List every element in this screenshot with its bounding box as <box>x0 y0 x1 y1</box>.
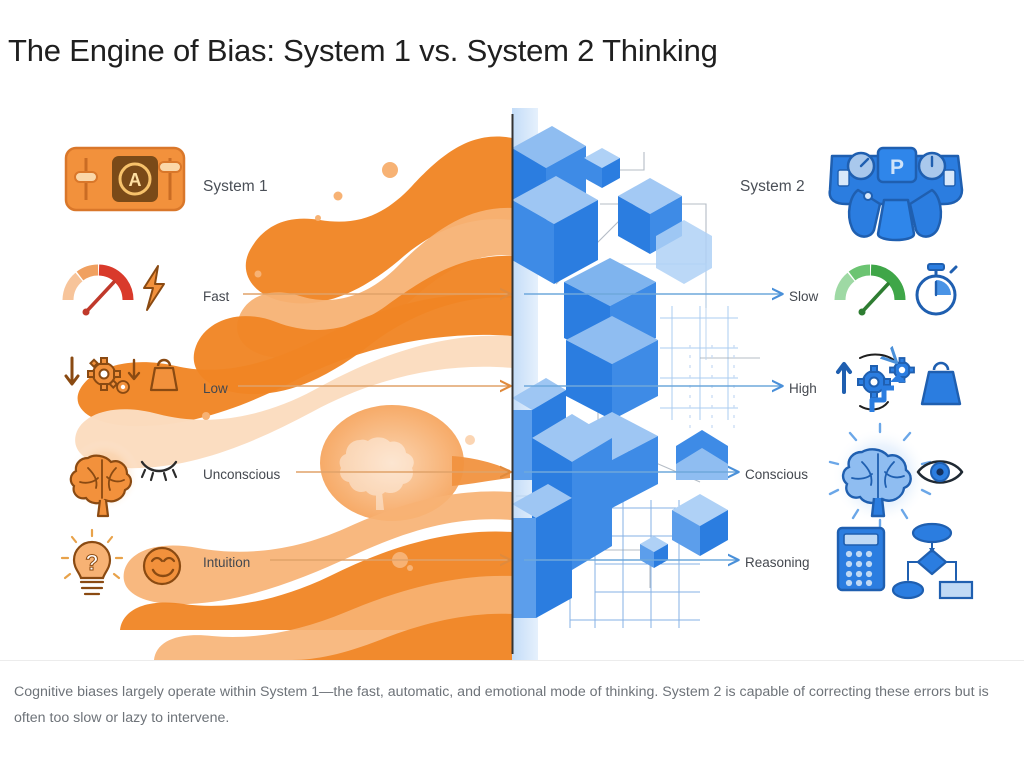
smiling-face-icon <box>144 548 180 584</box>
infographic-page: The Engine of Bias: System 1 vs. System … <box>0 0 1024 768</box>
row-label-high: High <box>789 381 817 396</box>
orange-brain-icon <box>68 440 140 516</box>
svg-text:A: A <box>129 170 142 190</box>
question-lightbulb-icon: ? <box>62 530 122 594</box>
row-label-fast: Fast <box>203 289 229 304</box>
row-label-intuition: Intuition <box>203 555 250 570</box>
page-title: The Engine of Bias: System 1 vs. System … <box>8 33 718 69</box>
red-speedometer-icon <box>68 270 128 316</box>
figure-panel: A <box>0 108 1024 660</box>
high-effort-gears-icon <box>838 355 914 412</box>
cube-small-top <box>584 148 620 188</box>
caption-text: Cognitive biases largely operate within … <box>14 679 994 732</box>
row-label-low: Low <box>203 381 228 396</box>
system1-heading: System 1 <box>203 178 268 196</box>
heavy-weight-icon <box>922 363 960 404</box>
automatic-mode-panel-icon: A <box>66 148 184 210</box>
green-speedometer-icon <box>840 270 900 316</box>
svg-text:P: P <box>890 156 904 179</box>
open-eye-icon <box>918 462 962 483</box>
cube-tiny-lower <box>640 536 668 568</box>
row-label-slow: Slow <box>789 289 818 304</box>
system1-fluid-field <box>75 137 512 660</box>
block-lower-left-c <box>512 484 572 618</box>
cube-small-lower-right <box>672 494 728 556</box>
row-label-reasoning: Reasoning <box>745 555 810 570</box>
glowing-blue-brain-icon <box>830 424 930 528</box>
system2-geometric-field <box>512 108 760 660</box>
figure-graphic: A <box>0 108 1024 660</box>
calculator-icon <box>838 528 884 590</box>
flowchart-icon <box>893 524 972 598</box>
system2-heading: System 2 <box>740 178 805 196</box>
row-label-unconscious: Unconscious <box>203 467 280 482</box>
stopwatch-icon <box>917 264 956 314</box>
lightning-bolt-icon <box>144 266 164 310</box>
manual-control-dashboard-icon: P <box>830 148 962 240</box>
svg-text:?: ? <box>85 550 98 575</box>
row-label-conscious: Conscious <box>745 467 808 482</box>
caption-separator <box>0 660 1024 661</box>
